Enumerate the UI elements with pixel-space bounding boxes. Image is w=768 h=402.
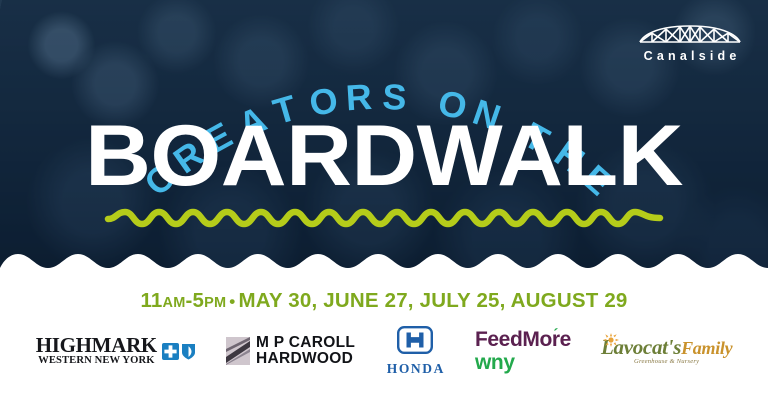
canalside-logo[interactable]: Canalside bbox=[630, 20, 750, 63]
sponsor-highmark[interactable]: HIGHMARK WESTERN NEW YORK bbox=[36, 325, 196, 377]
honda-h-emblem-icon bbox=[397, 326, 433, 354]
main-title: BOARDWALK bbox=[0, 112, 768, 200]
sponsor-feedmore-wny[interactable]: FeedMore´ wny bbox=[475, 325, 571, 377]
time-end-suffix: PM bbox=[204, 295, 226, 311]
truss-bridge-icon bbox=[638, 20, 742, 46]
mp-caroll-line1: M P CAROLL bbox=[256, 335, 355, 351]
scalloped-edge bbox=[0, 242, 768, 282]
lavocats-family-word: Family bbox=[681, 338, 732, 358]
mp-caroll-line2: HARDWOOD bbox=[256, 351, 355, 367]
time-start-suffix: AM bbox=[163, 295, 186, 311]
event-dates: MAY 30, JUNE 27, JULY 25, AUGUST 29 bbox=[238, 289, 627, 312]
honda-wordmark: HONDA bbox=[385, 361, 445, 377]
time-dash: - bbox=[185, 289, 192, 312]
highmark-name: HIGHMARK bbox=[36, 335, 157, 355]
feedmore-line2: wny bbox=[475, 352, 571, 373]
sponsor-lavocats-family[interactable]: Lavocat'sFamily Greenhouse & Nursery bbox=[601, 325, 732, 377]
sun-flower-icon bbox=[603, 333, 619, 347]
dateline: 11AM-5PM•MAY 30, JUNE 27, JULY 25, AUGUS… bbox=[0, 289, 768, 313]
time-start: 11 bbox=[140, 289, 162, 312]
sponsor-row: HIGHMARK WESTERN NEW YORK bbox=[0, 322, 768, 380]
feedmore-line1: FeedMore´ bbox=[475, 329, 571, 350]
wood-planks-icon bbox=[226, 337, 250, 365]
lavocats-name: Lavocat'sFamily bbox=[601, 337, 732, 358]
event-flyer: Canalside CREATORSONTHE BOARDWALK 11AM-5… bbox=[0, 0, 768, 402]
canalside-wordmark: Canalside bbox=[630, 49, 750, 63]
blue-cross-blue-shield-icon bbox=[162, 343, 196, 360]
dateline-separator: • bbox=[226, 292, 238, 311]
feedmore-accent-icon: ´ bbox=[553, 327, 558, 342]
sponsor-honda[interactable]: HONDA bbox=[385, 325, 445, 377]
sponsor-mp-caroll-hardwood[interactable]: M P CAROLL HARDWOOD bbox=[226, 325, 355, 377]
time-end: 5 bbox=[193, 289, 205, 312]
lavocats-subtitle: Greenhouse & Nursery bbox=[601, 358, 732, 365]
highmark-subtitle: WESTERN NEW YORK bbox=[36, 355, 157, 367]
info-band: 11AM-5PM•MAY 30, JUNE 27, JULY 25, AUGUS… bbox=[0, 282, 768, 402]
green-wave-divider bbox=[104, 205, 664, 231]
